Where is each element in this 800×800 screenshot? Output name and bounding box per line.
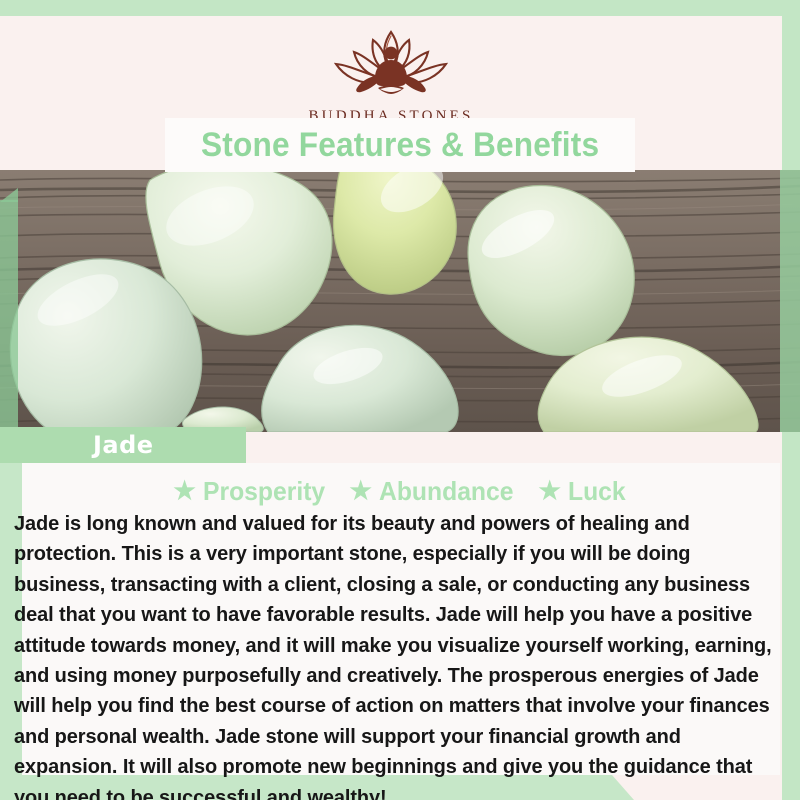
stone-info-card: BUDDHA STONES <box>0 0 800 800</box>
title-banner: Stone Features & Benefits <box>165 118 635 172</box>
star-icon: ★ <box>173 479 195 504</box>
stone-name-label: Jade <box>93 431 154 459</box>
stone-description: Jade is long known and valued for its be… <box>14 509 780 800</box>
right-edge-accent <box>782 432 800 800</box>
photo-left-accent-strip <box>0 200 18 432</box>
photo-right-accent-strip <box>780 170 800 432</box>
brand-logo: BUDDHA STONES <box>0 26 782 125</box>
benefits-row: ★ Prosperity ★ Abundance ★ Luck <box>22 476 780 506</box>
photo-illustration <box>0 170 800 432</box>
benefit-item-abundance: ★ Abundance <box>349 476 520 507</box>
star-icon: ★ <box>538 479 560 504</box>
lotus-meditation-logo-icon <box>316 26 466 104</box>
benefit-item-luck: ★ Luck <box>538 476 628 507</box>
jade-tumbled-stones-photo <box>0 170 800 432</box>
benefit-label: Abundance <box>379 476 513 507</box>
benefit-label: Prosperity <box>203 476 325 507</box>
star-icon: ★ <box>349 479 371 504</box>
stone-name-badge: Jade <box>0 427 246 463</box>
benefit-label: Luck <box>568 476 626 507</box>
top-edge-accent <box>0 0 800 16</box>
benefit-item-prosperity: ★ Prosperity <box>173 476 331 507</box>
page-title: Stone Features & Benefits <box>201 126 599 165</box>
